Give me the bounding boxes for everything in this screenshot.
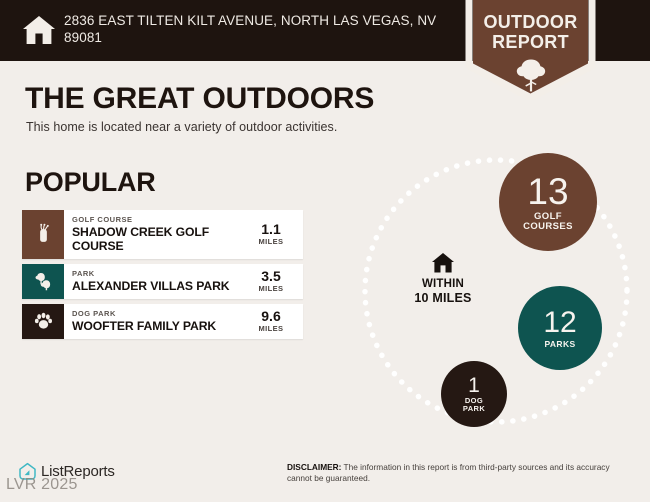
amenities-bubble-chart: 13 GOLF COURSES 12 PARKS 1 DOG PARK WITH — [355, 148, 645, 433]
golf-bag-icon — [22, 210, 64, 259]
within-radius-annotation: WITHIN 10 MILES — [388, 252, 498, 305]
bubble-label: DOG PARK — [463, 397, 485, 413]
distance-unit: MILES — [247, 284, 295, 293]
list-item-category: DOG PARK — [72, 309, 247, 319]
list-item-category: PARK — [72, 269, 247, 279]
bubble-label-line2: COURSES — [523, 222, 573, 232]
outdoor-report-page: 2836 EAST TILTEN KILT AVENUE, NORTH LAS … — [0, 0, 650, 502]
list-item-distance: 9.6 MILES — [247, 309, 299, 333]
list-item-name: ALEXANDER VILLAS PARK — [72, 279, 247, 293]
list-item[interactable]: GOLF COURSE SHADOW CREEK GOLF COURSE 1.1… — [22, 210, 303, 259]
bubble-value: 1 — [468, 375, 480, 396]
popular-heading: POPULAR — [25, 167, 156, 198]
bubble-label: PARKS — [544, 340, 575, 349]
list-item-category: GOLF COURSE — [72, 215, 247, 225]
disclaimer: DISCLAIMER: The information in this repo… — [287, 462, 622, 484]
trees-icon — [22, 264, 64, 299]
home-icon — [22, 14, 56, 46]
distance-unit: MILES — [247, 237, 295, 246]
tree-icon — [515, 58, 547, 92]
list-item-distance: 3.5 MILES — [247, 269, 299, 293]
distance-value: 1.1 — [247, 222, 295, 237]
list-item-text: PARK ALEXANDER VILLAS PARK — [72, 269, 247, 293]
badge-title-line1: OUTDOOR — [465, 12, 596, 32]
distance-value: 9.6 — [247, 309, 295, 324]
list-item-name: SHADOW CREEK GOLF COURSE — [72, 225, 247, 253]
within-line1: WITHIN — [388, 278, 498, 291]
list-item-text: DOG PARK WOOFTER FAMILY PARK — [72, 309, 247, 333]
popular-list: GOLF COURSE SHADOW CREEK GOLF COURSE 1.1… — [22, 210, 303, 344]
distance-value: 3.5 — [247, 269, 295, 284]
bubble-label-line2: PARK — [463, 405, 485, 413]
outdoor-report-badge: OUTDOOR REPORT — [465, 0, 596, 100]
badge-title: OUTDOOR REPORT — [465, 12, 596, 52]
bubble-value: 12 — [543, 308, 576, 338]
list-item-name: WOOFTER FAMILY PARK — [72, 319, 247, 333]
paw-print-icon — [22, 304, 64, 339]
bubble-label-line1: GOLF — [523, 212, 573, 222]
watermark: LVR 2025 — [6, 476, 78, 494]
within-line2: 10 MILES — [388, 291, 498, 305]
bubble-golf-courses[interactable]: 13 GOLF COURSES — [499, 153, 597, 251]
page-title: THE GREAT OUTDOORS — [25, 82, 374, 116]
disclaimer-label: DISCLAIMER: — [287, 462, 341, 472]
list-item-body: PARK ALEXANDER VILLAS PARK 3.5 MILES — [64, 264, 303, 299]
list-item-body: DOG PARK WOOFTER FAMILY PARK 9.6 MILES — [64, 304, 303, 339]
distance-unit: MILES — [247, 324, 295, 333]
property-address: 2836 EAST TILTEN KILT AVENUE, NORTH LAS … — [64, 12, 454, 46]
home-icon — [431, 252, 455, 274]
list-item-distance: 1.1 MILES — [247, 222, 299, 246]
list-item-body: GOLF COURSE SHADOW CREEK GOLF COURSE 1.1… — [64, 210, 303, 259]
list-item[interactable]: PARK ALEXANDER VILLAS PARK 3.5 MILES — [22, 264, 303, 299]
badge-title-line2: REPORT — [465, 32, 596, 52]
bubble-value: 13 — [527, 173, 568, 210]
bubble-dog-park[interactable]: 1 DOG PARK — [441, 361, 507, 427]
bubble-parks[interactable]: 12 PARKS — [518, 286, 602, 370]
bubble-label: GOLF COURSES — [523, 212, 573, 232]
page-subtitle: This home is located near a variety of o… — [26, 120, 337, 134]
list-item-text: GOLF COURSE SHADOW CREEK GOLF COURSE — [72, 215, 247, 253]
list-item[interactable]: DOG PARK WOOFTER FAMILY PARK 9.6 MILES — [22, 304, 303, 339]
